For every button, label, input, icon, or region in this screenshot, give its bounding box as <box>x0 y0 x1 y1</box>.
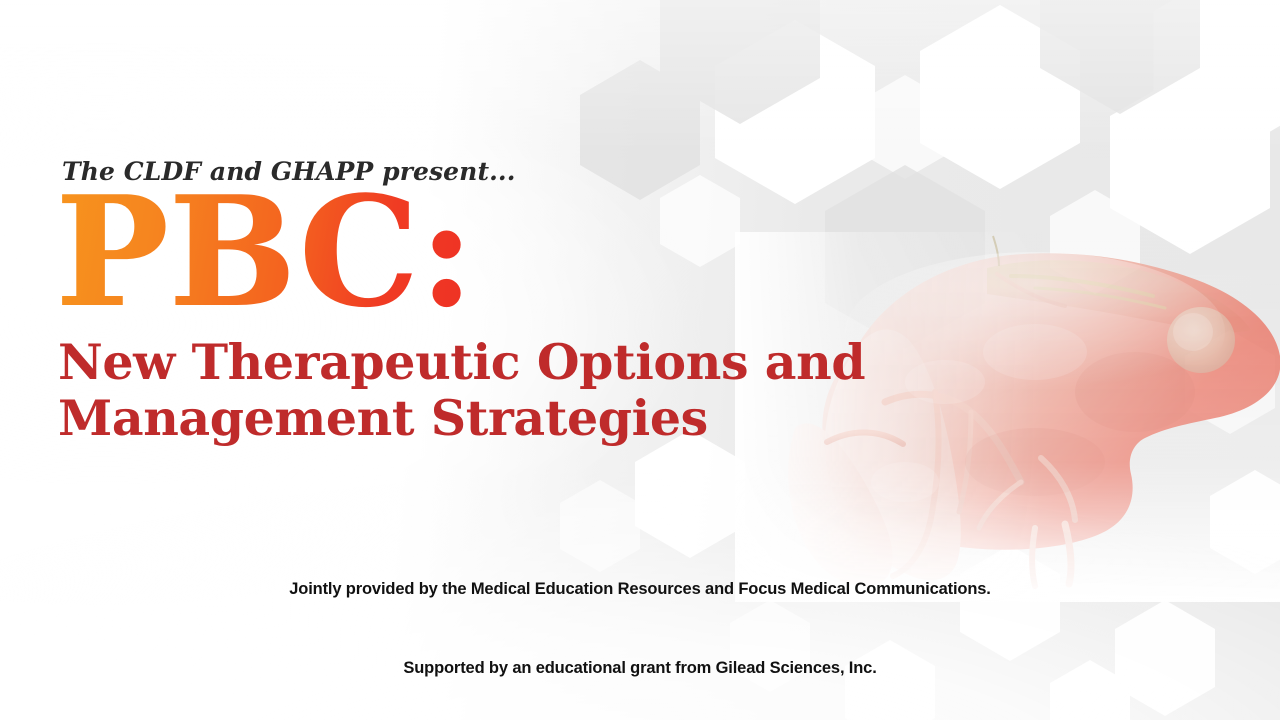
title-slide: The CLDF and GHAPP present... PBC: New T… <box>0 0 1280 720</box>
page-subtitle: New Therapeutic Options and Management S… <box>58 334 838 446</box>
subtitle-line-2: Management Strategies <box>58 390 838 446</box>
grant-support-text: Supported by an educational grant from G… <box>0 659 1280 678</box>
footer: Jointly provided by the Medical Educatio… <box>0 580 1280 720</box>
subtitle-line-1: New Therapeutic Options and <box>58 334 838 390</box>
jointly-provided-credit: Jointly provided by the Medical Educatio… <box>0 580 1280 599</box>
page-title: PBC: <box>55 176 474 328</box>
